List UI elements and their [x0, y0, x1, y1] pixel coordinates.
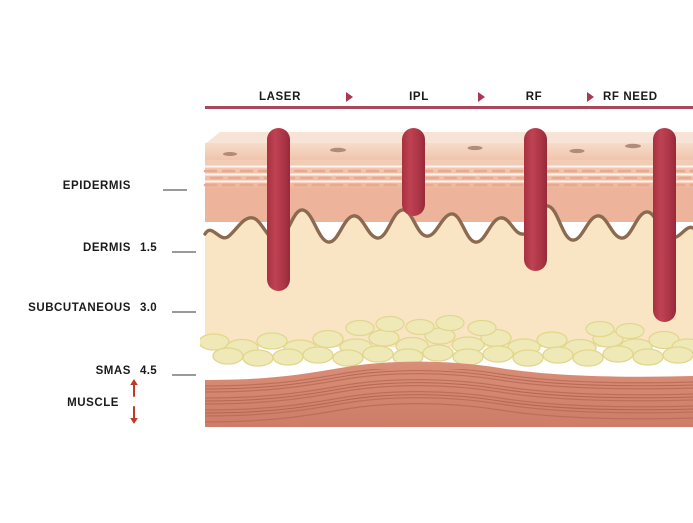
double-arrow-vertical-icon: [128, 379, 140, 424]
layer-depth-dermis: 1.5: [140, 242, 157, 254]
treatment-label-laser[interactable]: LASER: [205, 86, 355, 108]
layer-label-dermis: DERMIS: [0, 242, 131, 254]
layer-label-smas: SMAS: [0, 365, 131, 377]
treatment-bar-laser[interactable]: [267, 128, 290, 291]
layer-tick-smas: [172, 374, 196, 376]
layer-depth-subcutaneous: 3.0: [140, 302, 157, 314]
layer-label-epidermis: EPIDERMIS: [0, 180, 131, 192]
treatment-bar-ipl[interactable]: [402, 128, 425, 216]
triangle-right-icon-3: [587, 92, 594, 102]
treatment-header-row: LASER IPL RF RF NEED: [205, 86, 693, 108]
layer-tick-subcutaneous: [172, 311, 196, 313]
skin-cross-section-illustration: [200, 124, 693, 429]
treatment-bar-rf-needling[interactable]: [653, 128, 676, 322]
layer-tick-epidermis: [163, 189, 187, 191]
layer-tick-dermis: [172, 251, 196, 253]
layer-label-subcutaneous: SUBCUTANEOUS: [0, 302, 131, 314]
layer-depth-smas: 4.5: [140, 365, 157, 377]
muscle-layer: [205, 362, 693, 427]
treatment-label-rf-needling[interactable]: RF NEED: [603, 86, 693, 108]
treatment-label-rf[interactable]: RF: [493, 86, 575, 108]
diagram-canvas: LASER IPL RF RF NEED EPIDERMIS DERMIS 1.…: [0, 0, 693, 523]
header-divider-rule: [205, 106, 693, 109]
triangle-right-icon-2: [478, 92, 485, 102]
treatment-bar-rf[interactable]: [524, 128, 547, 271]
layer-label-muscle: MUSCLE: [0, 397, 119, 409]
treatment-label-ipl[interactable]: IPL: [364, 86, 474, 108]
triangle-right-icon-1: [346, 92, 353, 102]
